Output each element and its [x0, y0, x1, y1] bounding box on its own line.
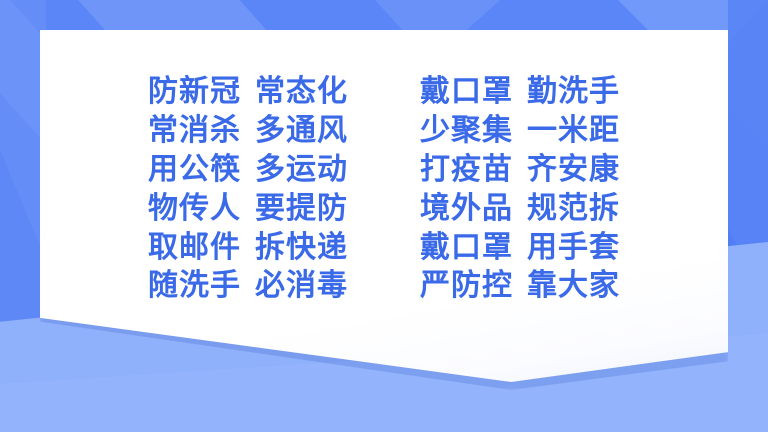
- slogan-line: 防新冠 常态化: [148, 74, 348, 111]
- slogan-part-first: 少聚集: [420, 113, 513, 150]
- slogan-part-first: 严防控: [420, 268, 513, 305]
- slogan-part-second: 靠大家: [527, 268, 620, 305]
- slogan-line: 少聚集 一米距: [420, 113, 620, 150]
- slogan-part-first: 戴口罩: [420, 230, 513, 267]
- slogan-line: 戴口罩 勤洗手: [420, 74, 620, 111]
- slogan-part-first: 打疫苗: [420, 152, 513, 189]
- slogan-line: 常消杀 多通风: [148, 113, 348, 150]
- slogan-part-second: 要提防: [255, 191, 348, 228]
- slogan-part-first: 随洗手: [148, 268, 241, 305]
- slogan-part-first: 取邮件: [148, 230, 241, 267]
- slogan-part-second: 多通风: [255, 113, 348, 150]
- slogan-part-second: 拆快递: [255, 230, 348, 267]
- slogan-line: 取邮件 拆快递: [148, 230, 348, 267]
- slogan-part-second: 常态化: [255, 74, 348, 111]
- slogan-part-second: 勤洗手: [527, 74, 620, 111]
- slogan-column-left: 防新冠 常态化 常消杀 多通风 用公筷 多运动 物传人 要提防 取邮件 拆快递 …: [148, 74, 348, 305]
- slogan-column-right: 戴口罩 勤洗手 少聚集 一米距 打疫苗 齐安康 境外品 规范拆 戴口罩 用手套 …: [420, 74, 620, 305]
- slogan-grid: 防新冠 常态化 常消杀 多通风 用公筷 多运动 物传人 要提防 取邮件 拆快递 …: [40, 30, 728, 382]
- slogan-part-second: 齐安康: [527, 152, 620, 189]
- slogan-part-first: 常消杀: [148, 113, 241, 150]
- poster-canvas: 防新冠 常态化 常消杀 多通风 用公筷 多运动 物传人 要提防 取邮件 拆快递 …: [0, 0, 768, 432]
- slogan-line: 打疫苗 齐安康: [420, 152, 620, 189]
- slogan-line: 戴口罩 用手套: [420, 230, 620, 267]
- slogan-part-first: 防新冠: [148, 74, 241, 111]
- slogan-part-first: 戴口罩: [420, 74, 513, 111]
- slogan-part-second: 规范拆: [527, 191, 620, 228]
- slogan-line: 严防控 靠大家: [420, 268, 620, 305]
- slogan-part-first: 用公筷: [148, 152, 241, 189]
- slogan-part-second: 多运动: [255, 152, 348, 189]
- slogan-line: 物传人 要提防: [148, 191, 348, 228]
- slogan-part-second: 一米距: [527, 113, 620, 150]
- slogan-line: 用公筷 多运动: [148, 152, 348, 189]
- slogan-part-first: 物传人: [148, 191, 241, 228]
- slogan-part-second: 必消毒: [255, 268, 348, 305]
- slogan-part-second: 用手套: [527, 230, 620, 267]
- slogan-line: 境外品 规范拆: [420, 191, 620, 228]
- slogan-line: 随洗手 必消毒: [148, 268, 348, 305]
- slogan-part-first: 境外品: [420, 191, 513, 228]
